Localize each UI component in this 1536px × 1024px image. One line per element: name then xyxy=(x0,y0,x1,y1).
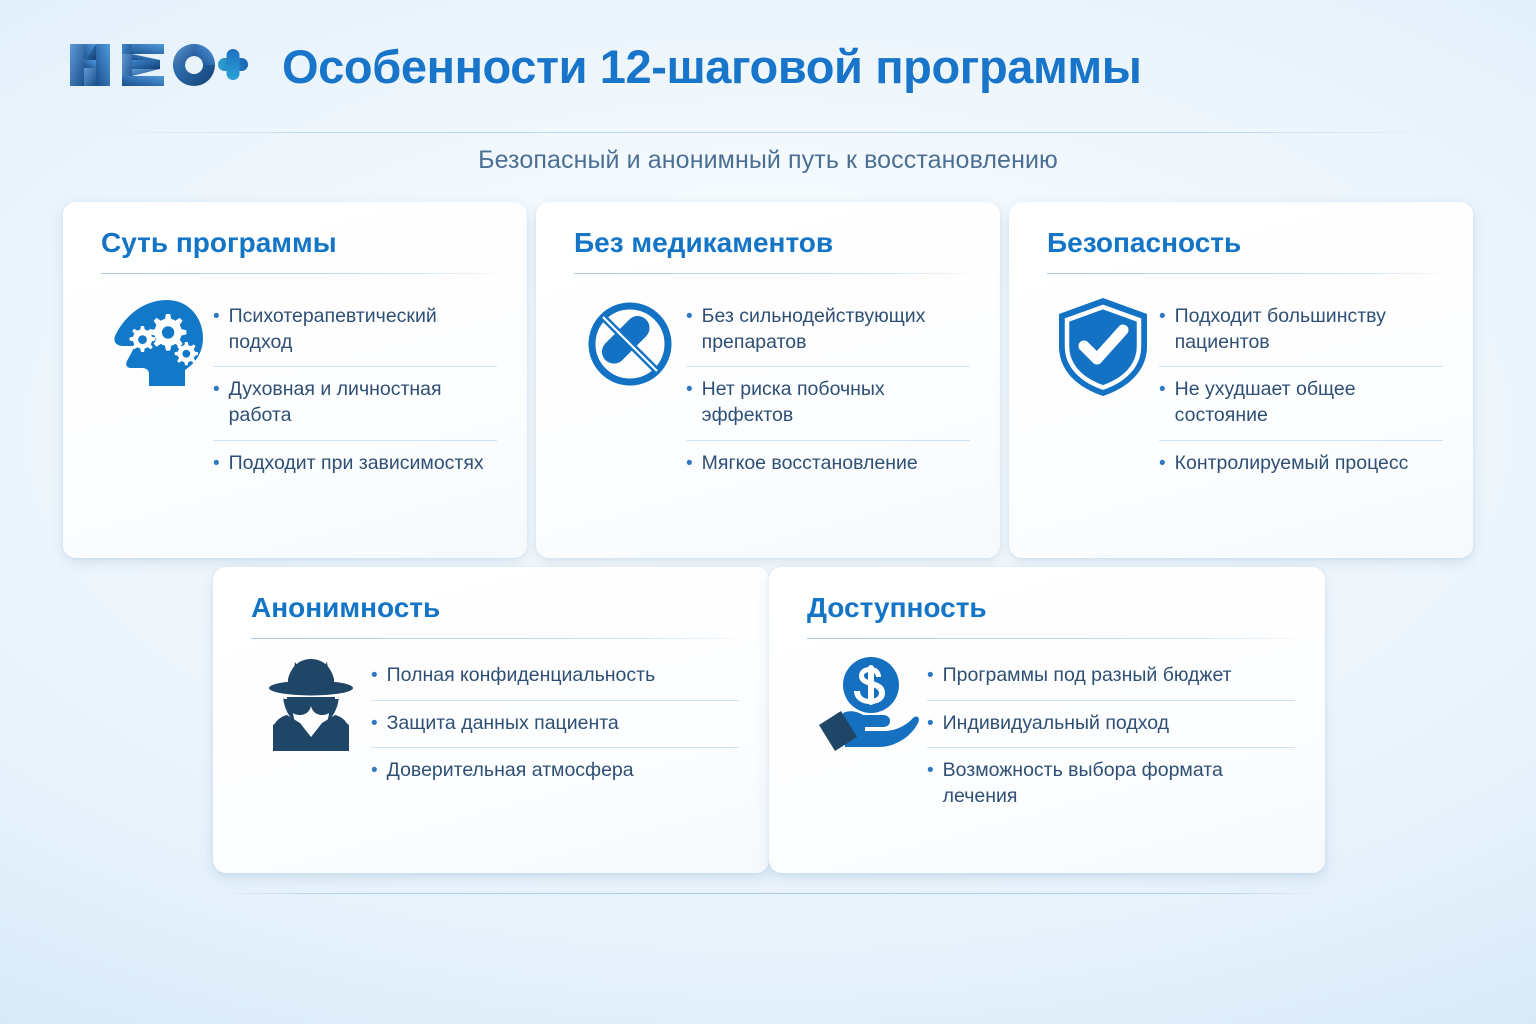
bullet-text: Индивидуальный подход xyxy=(943,711,1295,737)
bullet-text: Контролируемый процесс xyxy=(1175,451,1443,477)
card-bullet-list: • Подходит большинству пациентов • Не ух… xyxy=(1159,294,1443,488)
list-item: • Контролируемый процесс xyxy=(1159,441,1443,488)
bullet-text: Полная конфиденциальность xyxy=(387,663,739,689)
list-item: • Возможность выбора формата лечения xyxy=(927,748,1295,820)
list-item: • Без сильнодействующих препаратов xyxy=(686,294,970,367)
list-item: • Психотерапевтический подход xyxy=(213,294,497,367)
bullet-marker: • xyxy=(213,377,220,402)
page-subtitle: Безопасный и анонимный путь к восстановл… xyxy=(0,146,1536,175)
bullet-text: Программы под разный бюджет xyxy=(943,663,1295,689)
card-bullet-list: • Полная конфиденциальность • Защита дан… xyxy=(371,653,739,795)
list-item: • Духовная и личностная работа xyxy=(213,367,497,440)
card-sut-programmy[interactable]: Суть программы • xyxy=(63,202,527,558)
list-item: • Мягкое восстановление xyxy=(686,441,970,488)
card-title-divider xyxy=(574,273,970,274)
bullet-text: Защита данных пациента xyxy=(387,711,739,737)
neo-plus-logo xyxy=(66,38,248,92)
list-item: • Доверительная атмосфера xyxy=(371,748,739,795)
card-bullet-list: • Программы под разный бюджет • Индивиду… xyxy=(927,653,1295,821)
bullet-marker: • xyxy=(371,663,378,688)
card-title: Доступность xyxy=(807,593,1295,624)
shield-check-icon xyxy=(1047,292,1159,398)
card-title: Анонимность xyxy=(251,593,739,624)
bullet-marker: • xyxy=(927,663,934,688)
footer-divider xyxy=(213,893,1325,894)
bullet-marker: • xyxy=(686,377,693,402)
list-item: • Нет риска побочных эффектов xyxy=(686,367,970,440)
header-divider xyxy=(96,132,1440,133)
bullet-text: Не ухудшает общее состояние xyxy=(1175,377,1443,428)
head-with-gears-icon xyxy=(101,292,213,396)
card-bullet-list: • Психотерапевтический подход • Духовная… xyxy=(213,294,497,488)
bullet-text: Подходит большинству пациентов xyxy=(1175,304,1443,355)
bullet-text: Духовная и личностная работа xyxy=(229,377,497,428)
list-item: • Подходит большинству пациентов xyxy=(1159,294,1443,367)
card-anonimnost[interactable]: Анонимность xyxy=(213,567,769,873)
list-item: • Подходит при зависимостях xyxy=(213,441,497,488)
card-title-divider xyxy=(251,638,739,639)
bullet-text: Мягкое восстановление xyxy=(702,451,970,477)
bullet-marker: • xyxy=(371,758,378,783)
page-header: Особенности 12-шаговой программы xyxy=(0,0,1536,133)
list-item: • Программы под разный бюджет xyxy=(927,653,1295,701)
card-bez-medikamentov[interactable]: Без медикаментов • Без сильнодействующих… xyxy=(536,202,1000,558)
bullet-text: Подходит при зависимостях xyxy=(229,451,497,477)
bullet-marker: • xyxy=(1159,451,1166,476)
bullet-marker: • xyxy=(213,451,220,476)
hand-with-dollar-coin-icon xyxy=(807,651,927,757)
bullet-marker: • xyxy=(927,758,934,783)
card-title: Без медикаментов xyxy=(574,228,970,259)
bullet-text: Без сильнодействующих препаратов xyxy=(702,304,970,355)
bullet-marker: • xyxy=(213,304,220,329)
bullet-marker: • xyxy=(686,451,693,476)
bullet-text: Психотерапевтический подход xyxy=(229,304,497,355)
card-dostupnost[interactable]: Доступность • Программы под разный бюдже… xyxy=(769,567,1325,873)
bullet-marker: • xyxy=(927,711,934,736)
list-item: • Полная конфиденциальность xyxy=(371,653,739,701)
page-title: Особенности 12-шаговой программы xyxy=(282,43,1142,90)
bullet-marker: • xyxy=(1159,377,1166,402)
bullet-marker: • xyxy=(686,304,693,329)
card-title-divider xyxy=(807,638,1295,639)
card-title: Суть программы xyxy=(101,228,497,259)
bullet-marker: • xyxy=(371,711,378,736)
card-bezopasnost[interactable]: Безопасность • Подходит большинству паци… xyxy=(1009,202,1473,558)
card-title-divider xyxy=(101,273,497,274)
bullet-text: Возможность выбора формата лечения xyxy=(943,758,1295,809)
bullet-text: Доверительная атмосфера xyxy=(387,758,739,784)
bullet-text: Нет риска побочных эффектов xyxy=(702,377,970,428)
list-item: • Индивидуальный подход xyxy=(927,701,1295,749)
list-item: • Защита данных пациента xyxy=(371,701,739,749)
no-pills-icon xyxy=(574,292,686,392)
list-item: • Не ухудшает общее состояние xyxy=(1159,367,1443,440)
incognito-spy-icon xyxy=(251,651,371,757)
card-title-divider xyxy=(1047,273,1443,274)
bullet-marker: • xyxy=(1159,304,1166,329)
card-bullet-list: • Без сильнодействующих препаратов • Нет… xyxy=(686,294,970,488)
card-title: Безопасность xyxy=(1047,228,1443,259)
